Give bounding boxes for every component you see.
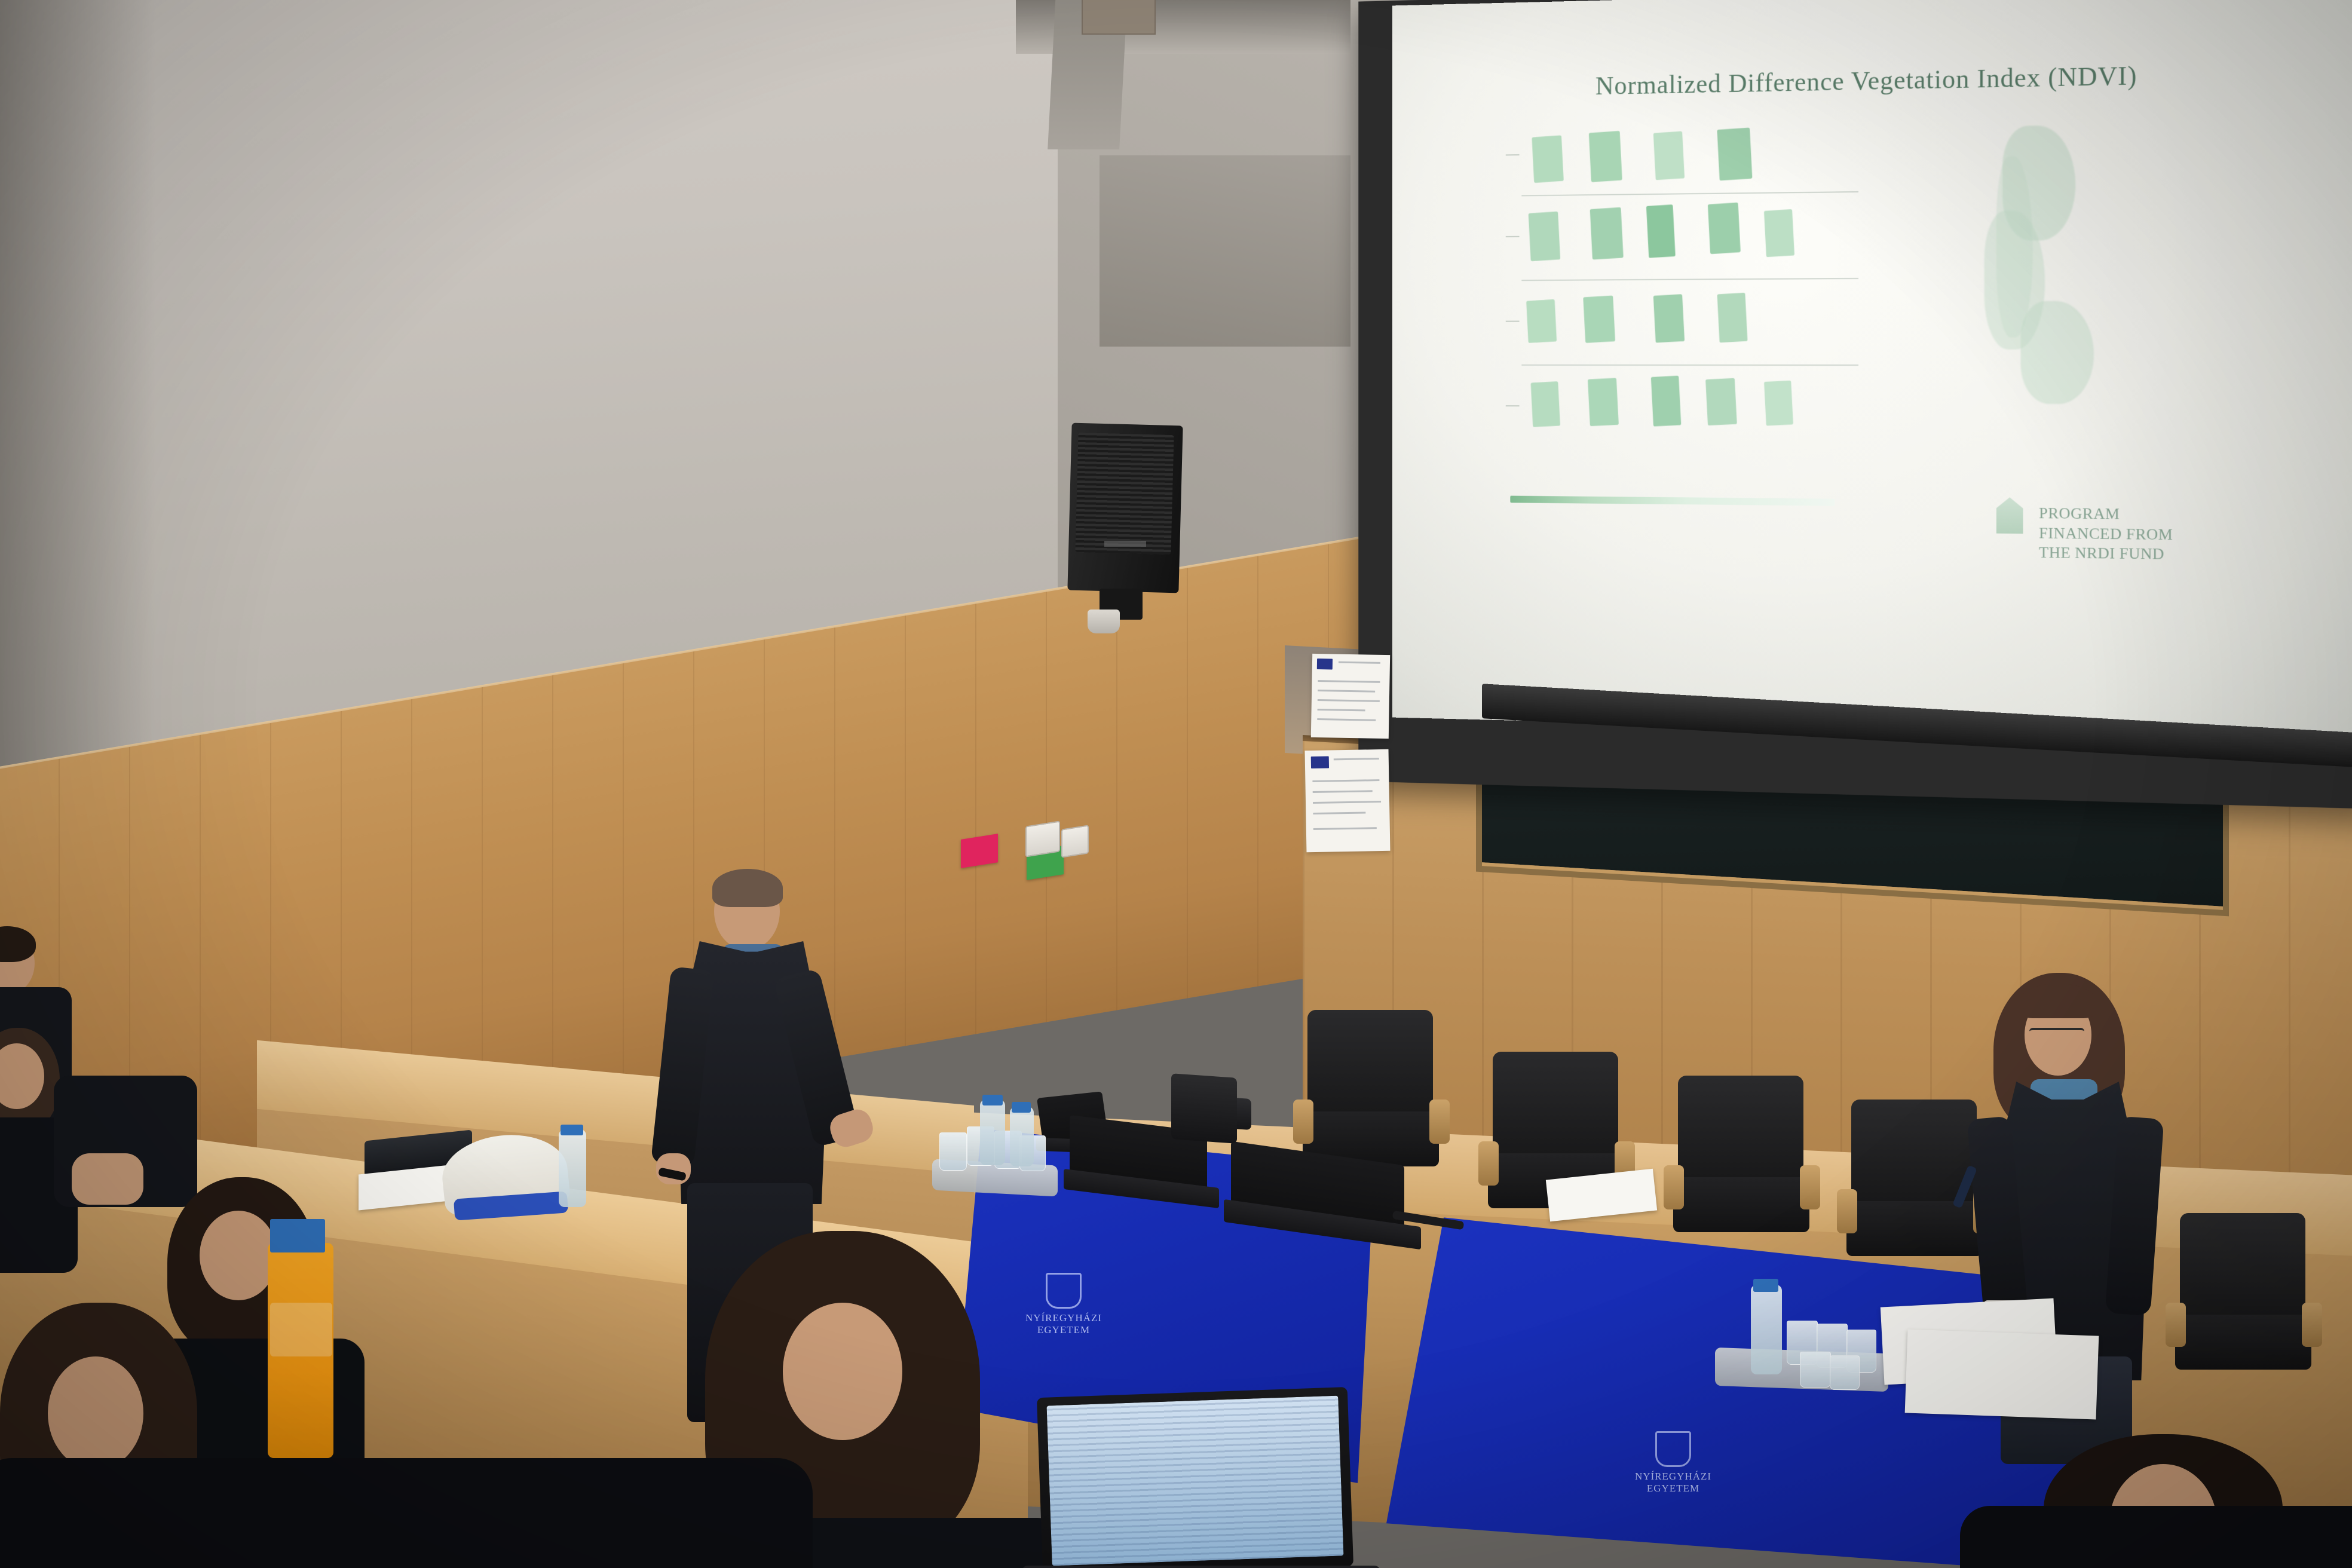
footer-line-1: PROGRAM — [2039, 504, 2173, 525]
university-logo-right: NYÍREGYHÁZI EGYETEM — [1631, 1431, 1715, 1495]
fund-logo-icon — [1996, 497, 2023, 534]
bottle-label — [270, 1303, 332, 1356]
water-glass — [1800, 1352, 1831, 1388]
eu-flag-icon-2 — [1311, 757, 1329, 769]
speaker-grille — [1075, 433, 1174, 555]
bottle-cap-4 — [561, 1125, 583, 1135]
bottle-cap-2 — [1012, 1102, 1031, 1113]
slide-footer: PROGRAM FINANCED FROM THE NRDI FUND — [2039, 504, 2173, 565]
university-logo-text-left: NYÍREGYHÁZI EGYETEM — [1025, 1312, 1102, 1336]
projection-screen: Normalized Difference Vegetation Index (… — [1392, 0, 2352, 742]
wall-sensor-icon — [1088, 610, 1120, 633]
presenter-hair — [712, 869, 783, 907]
lecture-hall-photo: Normalized Difference Vegetation Index (… — [0, 0, 2352, 1568]
university-logo-left: NYÍREGYHÁZI EGYETEM — [1025, 1273, 1102, 1337]
bottle-icon — [980, 1100, 1005, 1165]
chair-icon-3[interactable] — [1673, 1076, 1811, 1255]
university-crest-icon-2 — [1655, 1431, 1691, 1467]
university-crest-icon — [1046, 1273, 1082, 1309]
chair-icon-5[interactable] — [2175, 1213, 2313, 1392]
bottle-icon-4 — [559, 1129, 586, 1207]
audience-hand — [72, 1153, 143, 1205]
bottle-icon-3 — [1751, 1285, 1782, 1374]
trash-bin — [1171, 1073, 1237, 1144]
laptop-display — [1046, 1396, 1343, 1566]
wall-notice-2 — [1305, 749, 1391, 852]
foreground-audience-silhouette — [0, 1458, 813, 1568]
slide-title: Normalized Difference Vegetation Index (… — [1499, 58, 2242, 103]
satellite-map-thumbnail — [1979, 118, 2112, 422]
bottle-cap-5 — [270, 1219, 325, 1252]
speaker-brand-label — [1104, 541, 1146, 547]
moderator-fringe — [2020, 984, 2096, 1018]
wall-recess — [1100, 155, 1350, 347]
bottle-cap-3 — [1753, 1279, 1778, 1292]
ndvi-colorbar — [1510, 496, 1835, 506]
bottle-icon-2 — [1010, 1107, 1034, 1166]
foreground-audience-silhouette-2 — [1960, 1506, 2352, 1568]
bottle-cap — [982, 1095, 1003, 1105]
university-logo-text-right: NYÍREGYHÁZI EGYETEM — [1635, 1471, 1711, 1494]
water-glass — [939, 1132, 967, 1171]
document-sheet-2 — [1905, 1329, 2099, 1419]
footer-line-3: THE NRDI FUND — [2039, 543, 2173, 565]
ndvi-plot — [1505, 125, 1864, 484]
power-socket-icon[interactable] — [1025, 820, 1060, 857]
eu-flag-icon — [1317, 659, 1333, 669]
footer-line-2: FINANCED FROM — [2039, 523, 2173, 545]
sticky-note-pink — [961, 834, 998, 868]
wall-notice-1 — [1311, 654, 1390, 739]
power-socket-icon-2[interactable] — [1061, 825, 1089, 857]
water-glass — [1830, 1355, 1860, 1390]
ceiling-plate — [1082, 0, 1156, 35]
moderator-glasses-icon — [2029, 1028, 2084, 1040]
